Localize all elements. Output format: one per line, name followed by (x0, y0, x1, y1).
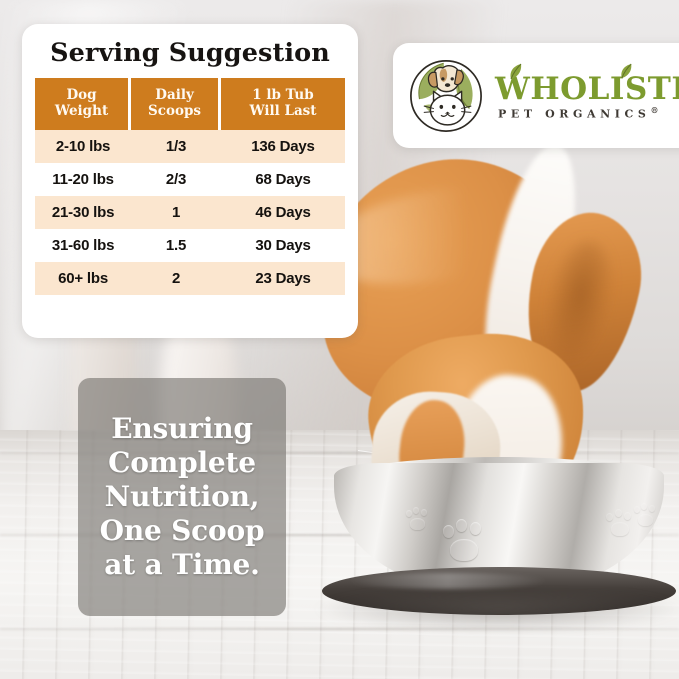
dog-food-bowl (318, 455, 679, 640)
paw-print-icon (606, 509, 636, 537)
cell-dog-weight: 60+ lbs (35, 262, 131, 295)
tagline-line-3: Nutrition, (105, 480, 260, 513)
column-header-daily-scoops: Daily Scoops (131, 78, 221, 130)
registered-trademark-symbol: ® (650, 105, 658, 115)
cell-tub-duration: 23 Days (221, 262, 345, 295)
column-header-line1: Daily (155, 87, 194, 103)
bowl-base-highlight (348, 573, 548, 589)
dog-cat-leaf-emblem-icon (407, 57, 485, 135)
paw-print-icon (442, 519, 490, 563)
table-row: 11-20 lbs 2/3 68 Days (35, 163, 345, 196)
brand-wordmark: WHOLISTIC PET ORGANICS® (495, 72, 679, 120)
tagline-line-1: Ensuring (111, 412, 253, 445)
cell-dog-weight: 2-10 lbs (35, 130, 131, 163)
table-row: 31-60 lbs 1.5 30 Days (35, 229, 345, 262)
column-header-line1: Dog (66, 87, 96, 103)
table-row: 60+ lbs 2 23 Days (35, 262, 345, 295)
cell-tub-duration: 30 Days (221, 229, 345, 262)
serving-suggestion-table: Dog Weight Daily Scoops 1 lb Tub Will La… (35, 78, 345, 295)
column-header-line2: Will Last (249, 103, 316, 119)
column-header-line2: Scoops (148, 103, 201, 119)
cell-tub-duration: 68 Days (221, 163, 345, 196)
cell-dog-weight: 21-30 lbs (35, 196, 131, 229)
tagline-line-4: One Scoop (100, 514, 265, 547)
brand-tagline: PET ORGANICS® (495, 106, 679, 120)
tagline-panel: Ensuring Complete Nutrition, One Scoop a… (78, 378, 286, 616)
column-header-tub-duration: 1 lb Tub Will Last (221, 78, 345, 130)
table-row: 2-10 lbs 1/3 136 Days (35, 130, 345, 163)
cell-daily-scoops: 1.5 (131, 229, 221, 262)
brand-name: WHOLISTIC (495, 74, 679, 105)
cell-dog-weight: 11-20 lbs (35, 163, 131, 196)
bowl-floor-shadow (312, 593, 679, 633)
brand-logo-card: WHOLISTIC PET ORGANICS® (393, 43, 679, 148)
column-header-dog-weight: Dog Weight (35, 78, 131, 130)
table-header-row: Dog Weight Daily Scoops 1 lb Tub Will La… (35, 78, 345, 130)
tagline-line-2: Complete (108, 446, 256, 479)
cell-daily-scoops: 2/3 (131, 163, 221, 196)
cell-dog-weight: 31-60 lbs (35, 229, 131, 262)
cell-daily-scoops: 1/3 (131, 130, 221, 163)
tagline-line-5: at a Time. (104, 548, 259, 581)
table-row: 21-30 lbs 1 46 Days (35, 196, 345, 229)
paw-print-icon (406, 507, 432, 531)
cell-daily-scoops: 1 (131, 196, 221, 229)
product-infographic: Serving Suggestion Dog Weight Daily Scoo… (0, 0, 679, 679)
column-header-line1: 1 lb Tub (252, 87, 313, 103)
serving-suggestion-card: Serving Suggestion Dog Weight Daily Scoo… (22, 24, 358, 338)
leaf-icon (508, 63, 524, 81)
column-header-line2: Weight (55, 103, 108, 119)
tagline-text: Ensuring Complete Nutrition, One Scoop a… (100, 412, 265, 581)
table-body: 2-10 lbs 1/3 136 Days 11-20 lbs 2/3 68 D… (35, 130, 345, 295)
brand-tagline-text: PET ORGANICS (498, 107, 650, 120)
paw-print-icon (634, 503, 660, 527)
cell-daily-scoops: 2 (131, 262, 221, 295)
leaf-icon (619, 63, 634, 80)
cell-tub-duration: 136 Days (221, 130, 345, 163)
page-title: Serving Suggestion (35, 40, 345, 67)
cell-tub-duration: 46 Days (221, 196, 345, 229)
